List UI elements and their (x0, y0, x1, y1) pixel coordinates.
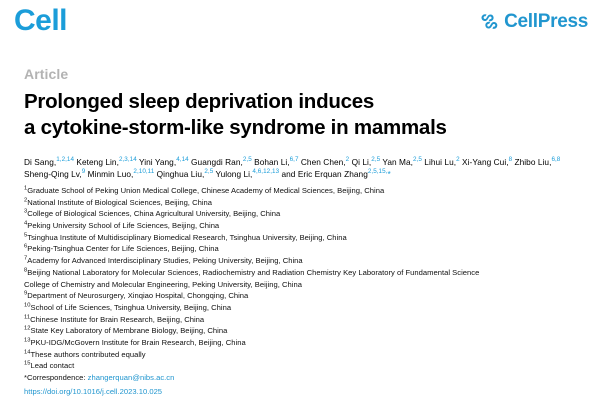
affiliation-lines: 1Graduate School of Peking Union Medical… (24, 185, 582, 372)
affiliation-text: Graduate School of Peking Union Medical … (27, 186, 384, 195)
page-title: Prolonged sleep deprivation induces a cy… (24, 89, 582, 141)
doi-link[interactable]: https://doi.org/10.1016/j.cell.2023.10.0… (24, 386, 582, 398)
affiliation-item: 4Peking University School of Life Scienc… (24, 220, 582, 232)
affiliation-text: Department of Neurosurgery, Xinqiao Hosp… (27, 291, 248, 300)
article-header: Article Prolonged sleep deprivation indu… (24, 66, 582, 397)
affiliation-text: College of Chemistry and Molecular Engin… (24, 280, 302, 289)
affiliation-item: 3College of Biological Sciences, China A… (24, 208, 582, 220)
affiliation-text: Lead contact (31, 361, 75, 370)
affiliation-item: 15Lead contact (24, 360, 582, 372)
cellpress-logo[interactable]: CellPress (480, 12, 588, 31)
affiliation-item: 9Department of Neurosurgery, Xinqiao Hos… (24, 290, 582, 302)
affiliation-item: 7Academy for Advanced Interdisciplinary … (24, 255, 582, 267)
affiliation-text: These authors contributed equally (31, 350, 146, 359)
affiliation-text: Tsinghua Institute of Multidisciplinary … (27, 233, 346, 242)
author-list: Di Sang,1,2,14 Keteng Lin,2,3,14 Yini Ya… (24, 157, 582, 181)
affiliation-text: National Institute of Biological Science… (27, 198, 212, 207)
affiliation-text: Peking-Tsinghua Center for Life Sciences… (27, 244, 219, 253)
affiliation-text: Chinese Institute for Brain Research, Be… (30, 315, 204, 324)
title-line: a cytokine-storm-like syndrome in mammal… (24, 115, 582, 141)
affiliation-text: College of Biological Sciences, China Ag… (27, 209, 280, 218)
affiliation-text: PKU-IDG/McGovern Institute for Brain Res… (31, 338, 246, 347)
affiliation-item: 14These authors contributed equally (24, 349, 582, 361)
affiliation-text: Academy for Advanced Interdisciplinary S… (27, 256, 302, 265)
affiliation-item: 8Beijing National Laboratory for Molecul… (24, 267, 582, 279)
correspondence-email[interactable]: zhangerquan@nibs.ac.cn (88, 373, 175, 382)
correspondence-line: *Correspondence: zhangerquan@nibs.ac.cn (24, 372, 582, 384)
affiliation-list: 1Graduate School of Peking Union Medical… (24, 185, 582, 397)
correspondence-label: *Correspondence: (24, 373, 86, 382)
affiliation-text: State Key Laboratory of Membrane Biology… (31, 326, 228, 335)
affiliation-item: College of Chemistry and Molecular Engin… (24, 279, 582, 291)
affiliation-item: 11Chinese Institute for Brain Research, … (24, 314, 582, 326)
affiliation-text: School of Life Sciences, Tsinghua Univer… (31, 303, 232, 312)
affiliation-item: 2National Institute of Biological Scienc… (24, 197, 582, 209)
affiliation-item: 12State Key Laboratory of Membrane Biolo… (24, 325, 582, 337)
cellpress-infinity-icon (480, 12, 499, 31)
affiliation-text: Peking University School of Life Science… (27, 221, 219, 230)
masthead: Cell CellPress (0, 0, 600, 46)
affiliation-item: 10School of Life Sciences, Tsinghua Univ… (24, 302, 582, 314)
affiliation-item: 1Graduate School of Peking Union Medical… (24, 185, 582, 197)
affiliation-item: 13PKU-IDG/McGovern Institute for Brain R… (24, 337, 582, 349)
title-line: Prolonged sleep deprivation induces (24, 89, 582, 115)
journal-wordmark: Cell (14, 6, 67, 36)
affiliation-item: 6Peking-Tsinghua Center for Life Science… (24, 243, 582, 255)
cellpress-wordmark: CellPress (504, 12, 588, 31)
affiliation-text: Beijing National Laboratory for Molecula… (27, 268, 479, 277)
affiliation-item: 5Tsinghua Institute of Multidisciplinary… (24, 232, 582, 244)
article-type-kicker: Article (24, 66, 582, 82)
